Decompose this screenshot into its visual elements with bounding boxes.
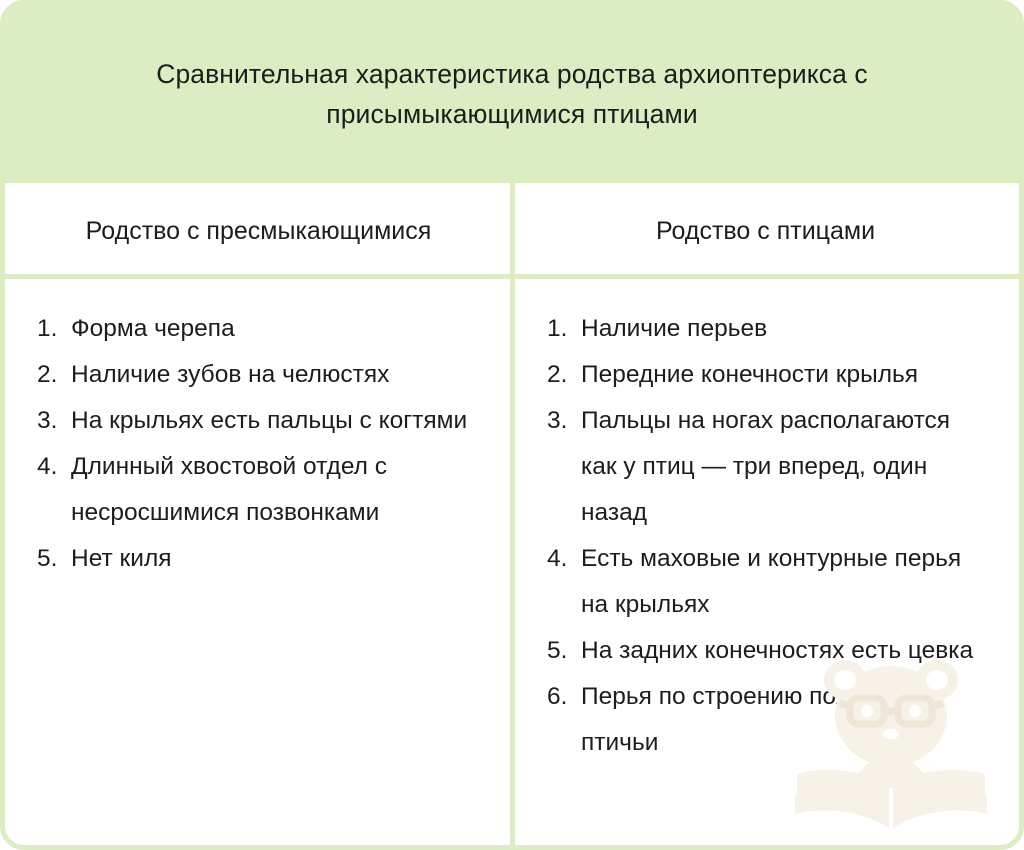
list-item-number: 2. bbox=[37, 352, 71, 398]
column-header-birds: Родство с птицами bbox=[512, 183, 1019, 279]
column-header-birds-label: Родство с птицами bbox=[656, 217, 875, 246]
list-item-number: 3. bbox=[37, 398, 71, 444]
list-item: 1. Наличие перьев bbox=[547, 306, 983, 352]
table-body-row: 1. Форма черепа 2. Наличие зубов на челю… bbox=[5, 279, 1019, 845]
bird-traits-list: 1. Наличие перьев 2. Передние конечности… bbox=[547, 306, 983, 766]
list-item: 5. На задних конечностях есть цевка bbox=[547, 628, 983, 674]
list-item-number: 5. bbox=[547, 628, 581, 674]
comparison-table-card: Сравнительная характеристика родства арх… bbox=[0, 0, 1024, 850]
list-item-text: Есть маховые и контурные перья на крылья… bbox=[581, 536, 983, 628]
column-body-reptiles: 1. Форма черепа 2. Наличие зубов на челю… bbox=[5, 279, 512, 845]
list-item-number: 5. bbox=[37, 536, 71, 582]
list-item: 5. Нет киля bbox=[37, 536, 472, 582]
list-item: 2. Наличие зубов на челюстях bbox=[37, 352, 472, 398]
list-item-number: 1. bbox=[547, 306, 581, 352]
column-body-birds: 1. Наличие перьев 2. Передние конечности… bbox=[512, 279, 1019, 845]
column-header-reptiles-label: Родство с пресмыкающимися bbox=[86, 217, 432, 246]
list-item-number: 4. bbox=[37, 444, 71, 490]
list-item-number: 4. bbox=[547, 536, 581, 582]
list-item: 1. Форма черепа bbox=[37, 306, 472, 352]
list-item-text: Форма черепа bbox=[71, 306, 472, 352]
list-item-text: Нет киля bbox=[71, 536, 472, 582]
list-item-text: Пальцы на ногах располагаются как у птиц… bbox=[581, 398, 983, 536]
list-item-text: На задних конечностях есть цевка bbox=[581, 628, 983, 674]
reptile-traits-list: 1. Форма черепа 2. Наличие зубов на челю… bbox=[37, 306, 472, 582]
list-item-number: 2. bbox=[547, 352, 581, 398]
list-item-text: Перья по строению похожи на птичьи bbox=[581, 674, 983, 766]
title-band: Сравнительная характеристика родства арх… bbox=[5, 5, 1019, 183]
list-item-number: 3. bbox=[547, 398, 581, 444]
page-title: Сравнительная характеристика родства арх… bbox=[115, 54, 909, 134]
list-item-text: Передние конечности крылья bbox=[581, 352, 983, 398]
list-item-text: Длинный хвостовой отдел с несросшимися п… bbox=[71, 444, 472, 536]
list-item: 4. Есть маховые и контурные перья на кры… bbox=[547, 536, 983, 628]
list-item-text: Наличие зубов на челюстях bbox=[71, 352, 472, 398]
list-item: 4. Длинный хвостовой отдел с несросшимис… bbox=[37, 444, 472, 536]
list-item-number: 1. bbox=[37, 306, 71, 352]
list-item: 3. На крыльях есть пальцы с когтями bbox=[37, 398, 472, 444]
list-item-text: Наличие перьев bbox=[581, 306, 983, 352]
column-header-reptiles: Родство с пресмыкающимися bbox=[5, 183, 512, 279]
list-item-text: На крыльях есть пальцы с когтями bbox=[71, 398, 472, 444]
list-item-number: 6. bbox=[547, 674, 581, 720]
list-item: 6. Перья по строению похожи на птичьи bbox=[547, 674, 983, 766]
page-root: Сравнительная характеристика родства арх… bbox=[0, 0, 1024, 850]
list-item: 2. Передние конечности крылья bbox=[547, 352, 983, 398]
list-item: 3. Пальцы на ногах располагаются как у п… bbox=[547, 398, 983, 536]
